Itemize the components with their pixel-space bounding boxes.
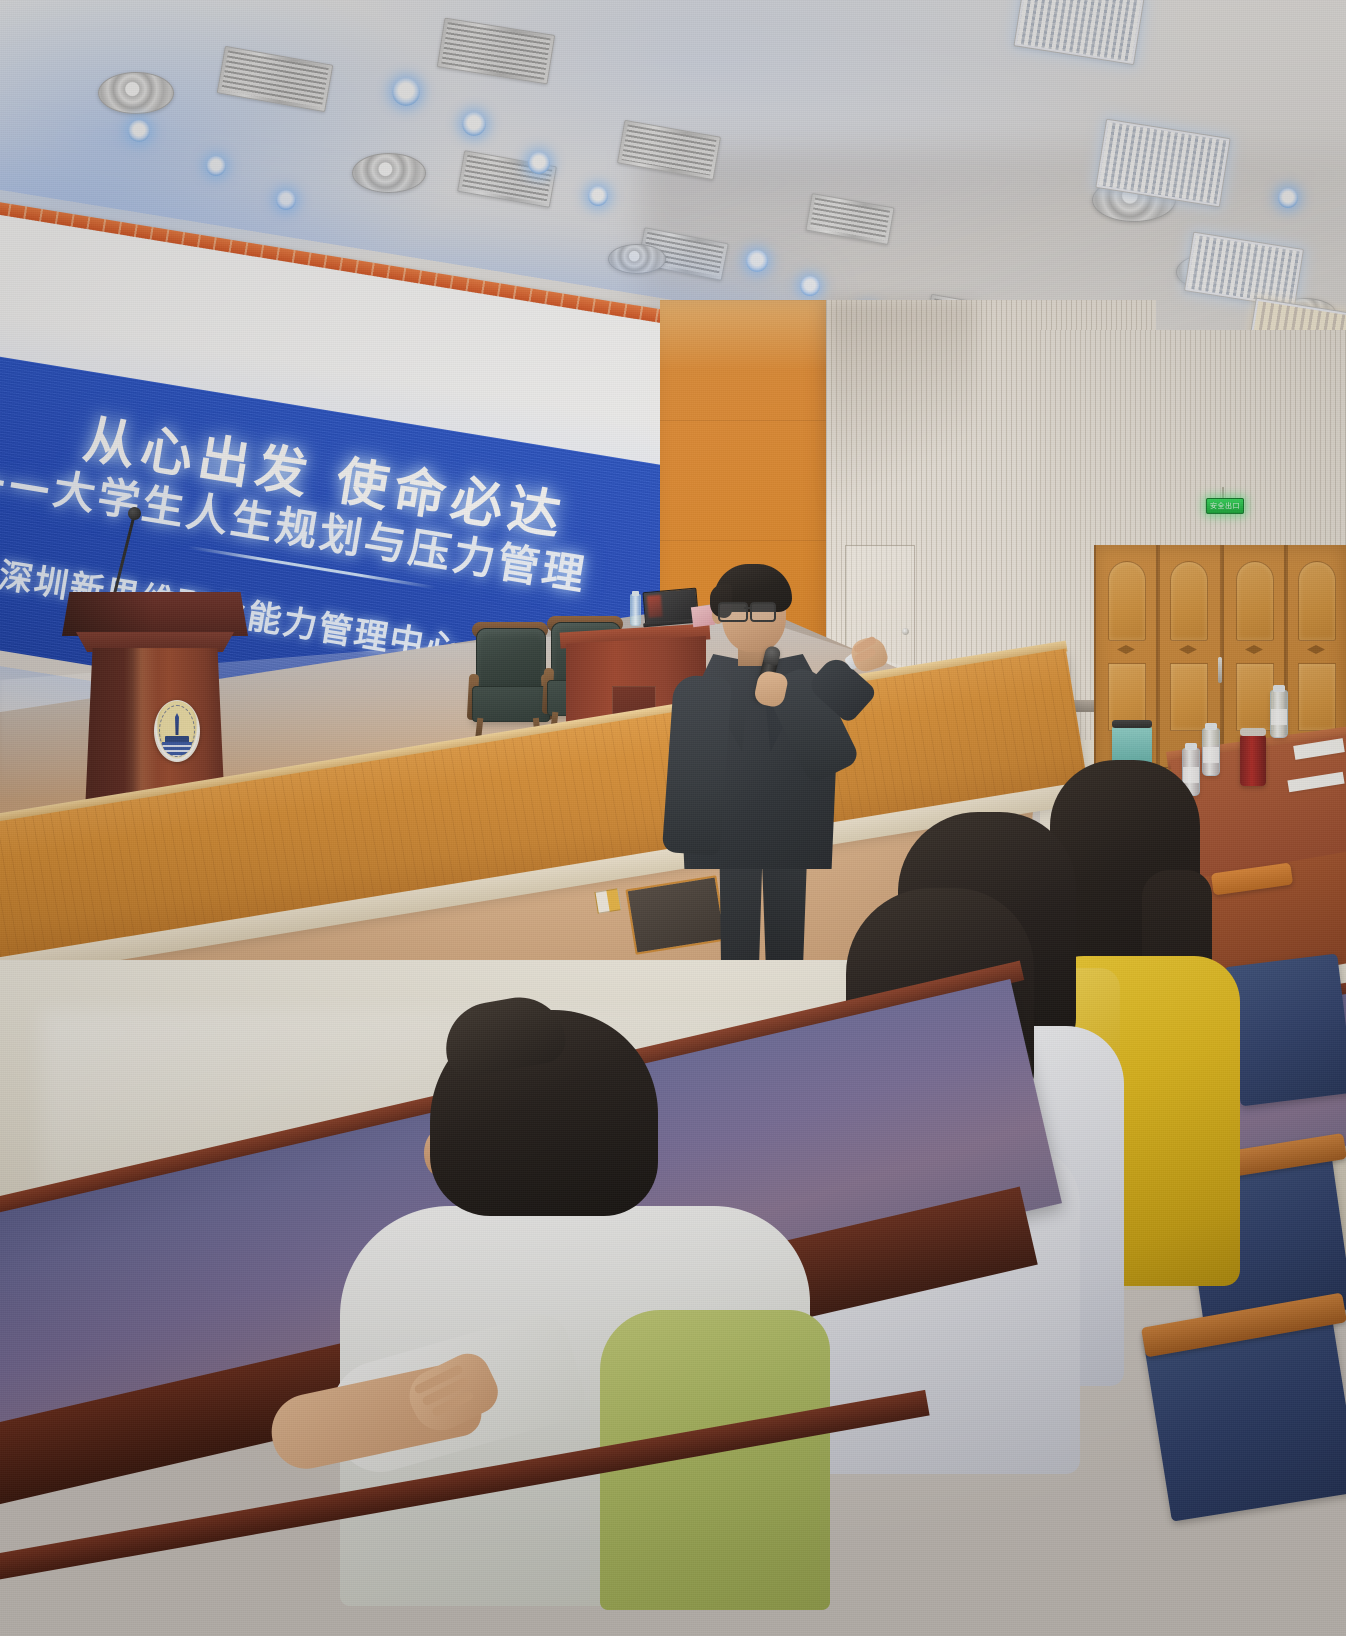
round-diffuser-icon — [352, 153, 426, 193]
round-diffuser-icon — [98, 72, 174, 114]
hair — [430, 1010, 658, 1216]
downlight-spot-icon — [276, 190, 296, 210]
door-panel-bottom — [1298, 663, 1336, 731]
door-panel-top — [1108, 561, 1146, 641]
door-panel-bottom — [1236, 663, 1274, 731]
exit-sign-label: 安全出口 — [1210, 503, 1240, 510]
door-panel-bottom — [1170, 663, 1208, 731]
microphone-icon — [128, 507, 141, 520]
downlight-spot-icon — [1278, 188, 1298, 208]
downlight-spot-icon — [746, 250, 768, 272]
audience-member-foreground — [430, 1010, 910, 1630]
chair-seat — [472, 686, 550, 722]
trash-bin-lid — [1112, 720, 1152, 728]
downlight-spot-icon — [528, 152, 550, 174]
door-diamond-inlay-icon — [1307, 645, 1325, 654]
bottle-cap — [632, 591, 639, 596]
presenter-arm-left — [662, 674, 732, 856]
downlight-spot-icon — [462, 112, 486, 136]
door-diamond-inlay-icon — [1117, 645, 1135, 654]
downlight-spot-icon — [800, 276, 820, 296]
downlight-spot-icon — [588, 186, 608, 206]
door-handle-icon[interactable] — [1218, 657, 1222, 683]
downlight-spot-icon — [392, 78, 420, 106]
door-diamond-inlay-icon — [1245, 645, 1263, 654]
door-knob-icon — [902, 628, 909, 635]
door-panel-top — [1236, 561, 1274, 641]
university-crest-icon — [154, 700, 200, 762]
door-diamond-inlay-icon — [1179, 645, 1197, 654]
stage-wall-switch[interactable] — [594, 888, 621, 913]
chair-back — [476, 628, 546, 694]
door-panel-top — [1298, 561, 1336, 641]
wall-shadow — [826, 300, 976, 510]
round-diffuser-icon — [608, 244, 666, 274]
door-panel-top — [1170, 561, 1208, 641]
downlight-spot-icon — [128, 120, 150, 142]
water-bottle — [630, 594, 641, 626]
eyeglasses-icon — [718, 602, 786, 620]
stage-chair — [470, 614, 550, 742]
downlight-spot-icon — [206, 156, 226, 176]
podium-top-shadow — [62, 592, 154, 636]
exit-sign: 安全出口 — [1206, 498, 1244, 514]
water-bottle — [1270, 690, 1288, 738]
lecture-hall-photo: 从心出发 使命必达 ——大学生人生规划与压力管理 主讲：深圳新思维职业能力管理中… — [0, 0, 1346, 1636]
